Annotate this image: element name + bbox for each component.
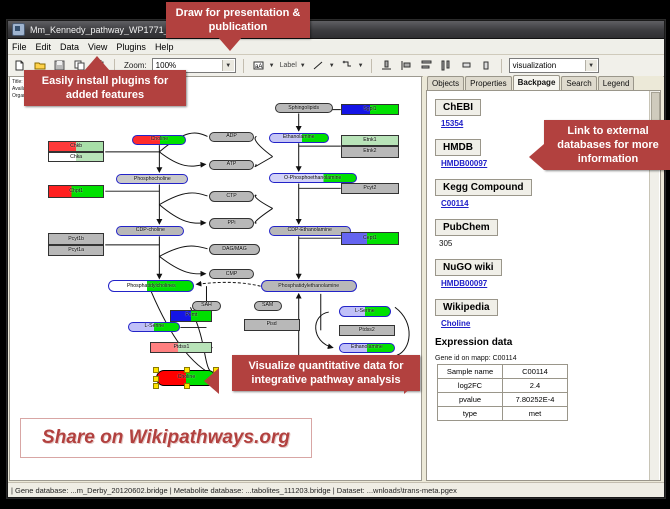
table-row: pvalue7.80252E-4 [438,393,568,407]
gene-node[interactable]: Chpt1 [48,185,104,197]
node-label: Sphingolipids [288,106,319,111]
menu-item-data[interactable]: Data [60,42,79,52]
node-label: CDP-Ethanolamine [288,228,332,233]
menu-item-plugins[interactable]: Plugins [116,42,146,52]
line-icon[interactable] [311,58,326,73]
metabolite-node[interactable]: Phosphatidylcholines [108,280,194,292]
node-label: Chka [70,155,82,160]
menu-item-edit[interactable]: Edit [36,42,52,52]
zoom-label: Zoom: [124,61,147,70]
callout-draw: Draw for presentation & publication [166,2,310,38]
line-dropdown-icon[interactable]: ▼ [329,63,335,69]
backpage-value-nugo-wiki[interactable]: HMDB00097 [441,279,652,288]
node-label: SAM [262,303,273,308]
metabolite-node[interactable]: DAG/MAG [209,244,259,255]
metabolite-node[interactable]: PPi [209,218,253,229]
callout-share-text: Share on Wikipathways.org [42,427,290,449]
metabolite-node[interactable]: Sphingolipids [275,103,333,114]
menu-item-view[interactable]: View [88,42,107,52]
backpage-header-chebi: ChEBI [435,99,481,116]
app-icon [12,23,25,36]
node-label: O-Phosphoethanolamine [284,176,341,181]
node-label: Phosphocholine [134,177,171,182]
callout-links-arrow [529,144,544,170]
metabolite-node[interactable]: Choline [132,135,186,146]
connector-dropdown-icon[interactable]: ▼ [358,63,364,69]
node-label: ADP [226,134,237,139]
align-bottom-icon[interactable] [379,58,394,73]
node-label: Choline [151,137,169,142]
callout-share: Share on Wikipathways.org [20,418,312,458]
menu-item-help[interactable]: Help [155,42,174,52]
selection-handle[interactable] [184,367,190,373]
node-label: Etnk1 [363,138,376,143]
toolbar-separator-3 [371,59,372,73]
metabolite-node[interactable]: Phosphatidylethanolamine [261,280,357,292]
zoom-value: 100% [156,61,176,70]
visualization-value: visualization [513,61,557,70]
node-label: Ethanolamine [283,135,315,140]
expression-data-table: Sample nameC00114log2FC2.4pvalue7.80252E… [437,364,568,421]
node-label: Pemt [185,313,197,318]
toolbar-separator-2 [243,59,244,73]
node-label: Phosphatidylcholines [127,284,176,289]
node-label: Ptdss2 [359,328,375,333]
node-label: Etnk2 [363,149,376,154]
callout-links-text: Link to external databases for more info… [557,125,658,165]
table-cell: 2.4 [503,379,568,393]
node-label: Phosphatidylethanolamine [278,284,339,289]
metabolite-node[interactable]: CDP-choline [116,226,184,237]
node-label: Ptdss1 [173,345,189,350]
gene-node[interactable]: Chka [48,152,104,163]
node-label: Chkb [70,144,82,149]
node-label: DAG/MAG [222,247,247,252]
node-label: Pisd [267,322,277,327]
table-row: typemet [438,407,568,421]
table-cell: Sample name [438,365,503,379]
callout-visualize-arrow-left [204,368,219,394]
common-width-icon[interactable] [459,58,474,73]
node-label: Ethanolamine [351,345,383,350]
backpage-value-pubchem: 305 [439,239,652,248]
gene-id-label: Gene id on mapp: C00114 [435,355,652,362]
tab-objects[interactable]: Objects [427,76,464,90]
selection-handle[interactable] [153,367,159,373]
status-text: | Gene database: ...m_Derby_20120602.bri… [11,486,457,495]
node-label: PPi [227,221,235,226]
text-box-icon[interactable]: aA [251,58,266,73]
gene-node[interactable]: Pisd [244,319,300,331]
table-cell: 7.80252E-4 [503,393,568,407]
selection-handle[interactable] [184,383,190,389]
node-label: CMP [226,272,238,277]
node-label: ATP [227,162,237,167]
align-left-icon[interactable] [399,58,414,73]
callout-draw-arrow [217,36,243,51]
menu-bar: File Edit Data View Plugins Help [8,39,664,55]
node-label: CTP [226,194,236,199]
gene-node[interactable]: Ptdss1 [150,342,212,354]
tab-backpage[interactable]: Backpage [513,75,561,90]
expression-data-title: Expression data [435,337,652,348]
metabolite-node[interactable]: CDP-Ethanolamine [269,226,351,237]
backpage-header-wikipedia: Wikipedia [435,299,498,316]
backpage-value-kegg-compound[interactable]: C00114 [441,199,652,208]
title-bar: Mm_Kennedy_pathway_WP1771_45176.gpml [8,21,664,39]
metabolite-node[interactable]: ATP [209,160,253,171]
chevron-down-icon[interactable]: ▼ [222,60,234,71]
metabolite-node[interactable]: Ethanolamine [339,343,395,354]
node-label: Pcyt1a [68,248,84,253]
callout-plugins: Easily install plugins for added feature… [24,70,186,106]
distribute-horizontal-icon[interactable] [439,58,454,73]
node-label: Cept1 [363,236,377,241]
tab-search[interactable]: Search [561,76,596,90]
svg-text:aA: aA [255,64,262,70]
table-cell: met [503,407,568,421]
metabolite-node[interactable]: CTP [209,191,253,202]
gene-node[interactable]: Pcyt1a [48,245,104,257]
common-height-icon[interactable] [479,58,494,73]
toolbar-separator-4 [501,59,502,73]
gene-node[interactable]: Chkb [48,141,104,152]
gene-node[interactable]: Etnk1 [341,135,399,147]
node-label: Pcyt1b [68,237,84,242]
gene-node[interactable]: Pcyt2 [341,183,399,195]
node-label: L-Serine [355,309,375,314]
table-row: Sample nameC00114 [438,365,568,379]
menu-item-file[interactable]: File [12,42,27,52]
status-bar: | Gene database: ...m_Derby_20120602.bri… [8,482,664,497]
gene-node[interactable]: Pemt [170,310,212,322]
tab-legend[interactable]: Legend [598,76,635,90]
gene-node[interactable]: Sgpl1 [341,104,399,116]
metabolite-node[interactable]: Ethanolamine [269,133,329,144]
table-cell: pvalue [438,393,503,407]
gene-node[interactable]: Ptdss2 [339,325,395,337]
selection-handle[interactable] [153,383,159,389]
callout-plugins-text: Easily install plugins for added feature… [42,75,169,101]
backpage-header-nugo-wiki: NuGO wiki [435,259,502,276]
table-cell: type [438,407,503,421]
tab-properties[interactable]: Properties [465,76,511,90]
callout-visualize-text: Visualize quantitative data for integrat… [248,360,403,386]
callout-visualize: Visualize quantitative data for integrat… [232,355,420,391]
connector-icon[interactable] [340,58,355,73]
screenshot-root: Mm_Kennedy_pathway_WP1771_45176.gpml Fil… [0,0,670,509]
table-row: log2FC2.4 [438,379,568,393]
label-dropdown-icon[interactable]: ▼ [300,63,306,69]
callout-visualize-arrow-right [404,368,419,394]
visualization-chevron-down-icon[interactable]: ▼ [585,60,597,71]
gene-node[interactable]: Pcyt1b [48,233,104,245]
metabolite-node[interactable]: SAM [254,301,282,312]
callout-links: Link to external databases for more info… [544,120,670,170]
metabolite-node[interactable]: ADP [209,132,253,143]
gene-node[interactable]: Cept1 [341,232,399,244]
backpage-value-wikipedia[interactable]: Choline [441,319,652,328]
metabolite-node[interactable]: L-Serine [128,322,180,333]
node-label: Choline [178,375,196,380]
gene-node[interactable]: Etnk2 [341,146,399,158]
backpage-header-hmdb: HMDB [435,139,481,156]
table-cell: C00114 [503,365,568,379]
callout-plugins-arrow [84,56,110,71]
distribute-vertical-icon[interactable] [419,58,434,73]
node-label: SAH [201,303,212,308]
node-label: Chpt1 [69,189,83,194]
label-tool-label[interactable]: Label [280,62,297,69]
node-label: L-Serine [145,324,165,329]
backpage-header-pubchem: PubChem [435,219,498,236]
metabolite-node[interactable]: CMP [209,269,253,280]
visualization-combo[interactable]: visualization ▼ [509,58,599,73]
side-panel-tabs: ObjectsPropertiesBackpageSearchLegend [423,76,663,90]
node-label: Sgpl1 [363,107,376,112]
metabolite-node[interactable]: Phosphocholine [116,174,188,185]
selection-handle[interactable] [153,376,159,382]
metabolite-node[interactable]: L-Serine [339,306,391,317]
text-box-dropdown-icon[interactable]: ▼ [269,63,275,69]
node-label: CDP-choline [136,228,165,233]
table-cell: log2FC [438,379,503,393]
backpage-header-kegg-compound: Kegg Compound [435,179,532,196]
node-label: Pcyt2 [363,186,376,191]
callout-draw-text: Draw for presentation & publication [176,7,301,33]
